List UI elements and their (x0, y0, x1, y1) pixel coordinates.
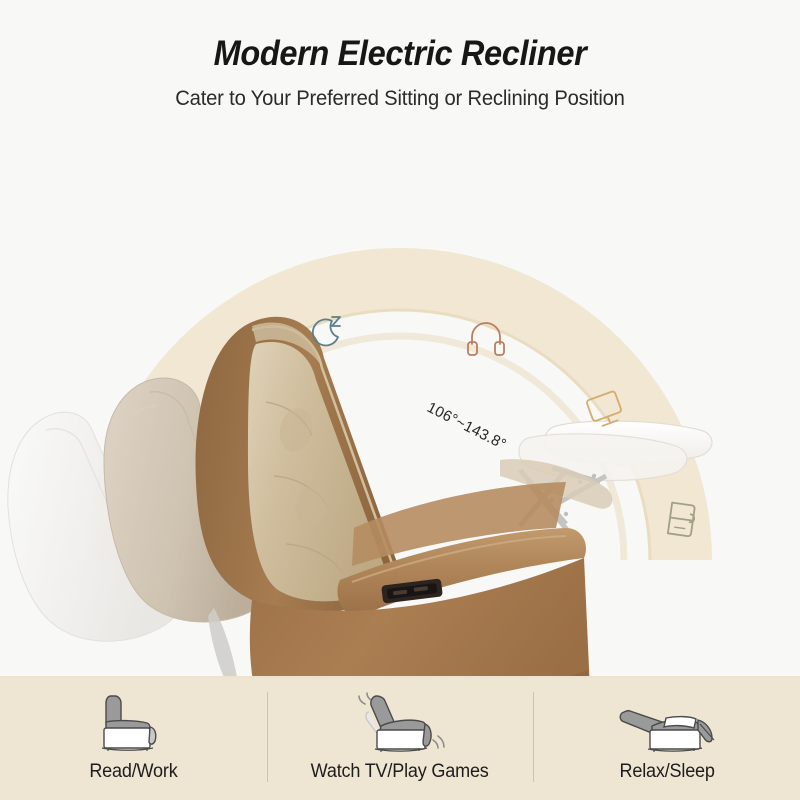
mode-relax-sleep[interactable]: Relax/Sleep (533, 678, 800, 800)
recliner-scene (0, 130, 800, 678)
mode-label: Watch TV/Play Games (311, 761, 489, 783)
page-title: Modern Electric Recliner (28, 0, 772, 74)
moon-sleep-icon (305, 311, 349, 360)
mode-label: Relax/Sleep (619, 761, 714, 783)
headphones-icon (463, 316, 509, 365)
chair-upright-icon (81, 690, 185, 752)
hero-illustration: 106°~143.8° (0, 130, 800, 678)
product-infographic: Modern Electric Recliner Cater to Your P… (0, 0, 800, 800)
chair-reclined-icon (608, 690, 726, 752)
chair-rocking-icon (341, 690, 459, 752)
usage-modes-bar: Read/Work (0, 678, 800, 800)
monitor-tv-icon (581, 387, 629, 440)
mode-watch-tv-play-games[interactable]: Watch TV/Play Games (267, 678, 534, 800)
mode-read-work[interactable]: Read/Work (0, 678, 267, 800)
open-book-icon (658, 495, 704, 548)
mode-label: Read/Work (89, 761, 177, 783)
page-subtitle: Cater to Your Preferred Sitting or Recli… (24, 74, 776, 111)
main-recliner-chair (196, 317, 590, 678)
header: Modern Electric Recliner Cater to Your P… (0, 0, 800, 111)
